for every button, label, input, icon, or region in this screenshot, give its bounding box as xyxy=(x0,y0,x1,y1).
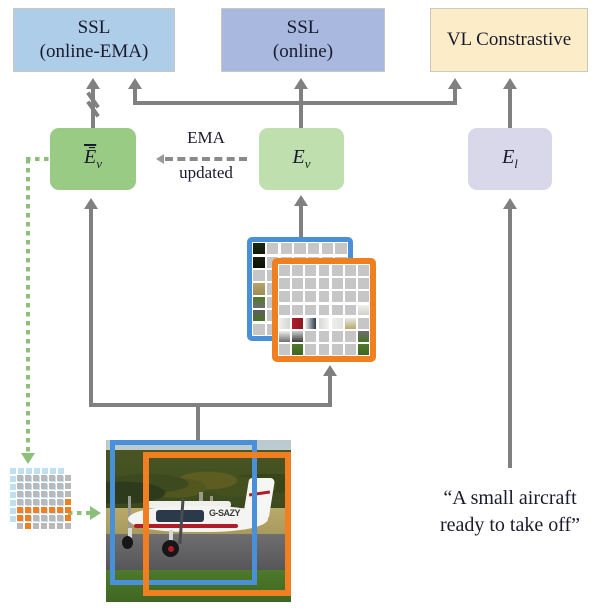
patch-cell xyxy=(253,243,264,254)
token-cell xyxy=(49,515,55,521)
token-cell xyxy=(33,523,39,529)
token-cell xyxy=(33,483,39,489)
patch-cell xyxy=(292,331,303,342)
arrow-head-to-ssl-online-ema xyxy=(128,78,142,89)
arrow-head-to-vl-contrastive-left xyxy=(448,78,462,89)
ema-label-top: EMA xyxy=(151,128,261,148)
patch-cell xyxy=(358,331,369,342)
objective-label-line2: (online-EMA) xyxy=(40,40,149,64)
patch-cell xyxy=(279,278,290,289)
token-cell xyxy=(41,507,47,513)
arrow-head-patchgrid-to-ev xyxy=(294,195,308,206)
patch-cell xyxy=(332,331,343,342)
patch-cell xyxy=(305,305,316,316)
patchgrid-to-ev-line xyxy=(299,205,303,237)
encoder-label: El xyxy=(502,145,518,172)
photo-to-patchgrid-line xyxy=(328,375,332,405)
patch-cell xyxy=(322,243,333,254)
arrow-head-photo-to-patchgrid xyxy=(323,365,337,376)
arrow-head-photo-to-target-encoder xyxy=(84,198,98,209)
patch-cell xyxy=(253,257,264,268)
patch-cell xyxy=(305,344,316,355)
patch-cell xyxy=(279,305,290,316)
caption-to-language-encoder-line xyxy=(508,208,512,468)
patch-cell xyxy=(294,243,305,254)
patch-cell xyxy=(292,265,303,276)
token-cell xyxy=(17,507,23,513)
token-cell xyxy=(57,515,63,521)
encoder-label: Ēv xyxy=(84,145,102,172)
patch-cell xyxy=(319,318,330,329)
arrow-head-to-vl-contrastive-right xyxy=(503,78,517,89)
photo-branch-bus xyxy=(89,403,332,407)
token-cell xyxy=(17,483,23,489)
token-cell xyxy=(34,468,40,474)
patch-cell xyxy=(332,291,343,302)
token-cell xyxy=(41,475,47,481)
token-cell xyxy=(33,515,39,521)
objective-box-ssl-online-ema[interactable]: SSL (online-EMA) xyxy=(13,8,175,72)
patch-cell xyxy=(332,278,343,289)
token-cell xyxy=(49,499,55,505)
patch-cells-orange xyxy=(278,264,370,356)
token-cell xyxy=(49,491,55,497)
patch-cell xyxy=(253,297,264,308)
token-cell xyxy=(65,499,71,505)
token-cell xyxy=(65,523,71,529)
patch-cell xyxy=(358,318,369,329)
token-cell xyxy=(17,475,23,481)
token-cell xyxy=(33,491,39,497)
patch-cell xyxy=(267,243,278,254)
ema-dashed-line xyxy=(165,157,247,161)
photo-to-target-encoder-line xyxy=(89,208,93,405)
patch-cell xyxy=(253,270,264,281)
token-cell xyxy=(57,491,63,497)
green-dotted-horizontal-to-encoder xyxy=(26,157,52,161)
patch-cell xyxy=(332,344,343,355)
caption-line2: ready to take off” xyxy=(415,512,600,539)
token-cell xyxy=(41,499,47,505)
patch-cell xyxy=(345,265,356,276)
patch-cell xyxy=(305,331,316,342)
bus-riser-right xyxy=(453,88,457,103)
token-cell xyxy=(65,483,71,489)
encoder-box-target-vision[interactable]: Ēv xyxy=(50,128,136,190)
token-cell xyxy=(49,483,55,489)
patch-cell xyxy=(345,291,356,302)
token-cell xyxy=(57,499,63,505)
patch-cell xyxy=(279,331,290,342)
objective-bus-line xyxy=(133,101,457,105)
diagram-canvas: SSL (online-EMA) SSL (online) VL Constra… xyxy=(0,0,600,610)
encoder-label: Ev xyxy=(293,145,311,172)
token-cell xyxy=(10,492,16,498)
patch-cell xyxy=(345,318,356,329)
patch-cell xyxy=(345,278,356,289)
patch-cell xyxy=(345,344,356,355)
patch-cell xyxy=(332,265,343,276)
token-cell xyxy=(25,507,31,513)
patch-cell xyxy=(292,305,303,316)
token-cell xyxy=(10,500,16,506)
token-cell xyxy=(57,523,63,529)
token-cell xyxy=(17,491,23,497)
token-cell xyxy=(10,516,16,522)
patch-cell xyxy=(292,318,303,329)
patch-cell xyxy=(358,265,369,276)
token-cell xyxy=(41,483,47,489)
arrow-head-stopgrad xyxy=(86,78,100,89)
objective-box-ssl-online[interactable]: SSL (online) xyxy=(221,8,385,72)
orange-crop-box[interactable] xyxy=(143,452,291,596)
objective-label-line1: VL Constrastive xyxy=(447,28,571,52)
token-cell xyxy=(25,523,31,529)
token-cell xyxy=(10,468,16,474)
token-cell xyxy=(57,507,63,513)
patch-cell xyxy=(253,310,264,321)
token-cell xyxy=(25,515,31,521)
token-cell xyxy=(65,491,71,497)
patch-cell xyxy=(292,278,303,289)
token-cell xyxy=(65,515,71,521)
token-cell xyxy=(25,475,31,481)
token-cell xyxy=(41,491,47,497)
token-cell xyxy=(57,475,63,481)
objective-label-line2: (online) xyxy=(273,40,333,64)
token-cell xyxy=(42,468,48,474)
encoder-box-language[interactable]: El xyxy=(468,128,552,190)
patch-cell xyxy=(319,291,330,302)
token-cell xyxy=(25,491,31,497)
token-cell xyxy=(57,483,63,489)
patch-cell xyxy=(253,324,264,335)
arrow-head-caption-to-language-encoder xyxy=(503,198,517,209)
patch-cell xyxy=(319,305,330,316)
text-caption: “A small aircraft ready to take off” xyxy=(415,485,600,539)
encoder-box-online-vision[interactable]: Ev xyxy=(259,128,344,190)
token-cell xyxy=(33,475,39,481)
objective-label-line1: SSL xyxy=(273,16,333,40)
token-cell xyxy=(65,475,71,481)
token-cell xyxy=(17,499,23,505)
patch-cell xyxy=(332,318,343,329)
patch-cell xyxy=(279,265,290,276)
patch-cell xyxy=(279,318,290,329)
token-cell xyxy=(58,468,64,474)
patch-cell xyxy=(335,243,346,254)
ema-label-bottom: updated xyxy=(151,163,261,183)
el-to-vl-line xyxy=(508,88,512,128)
token-cell xyxy=(10,484,16,490)
token-cell xyxy=(26,468,32,474)
objective-label-line1: SSL xyxy=(40,16,149,40)
caption-line1: “A small aircraft xyxy=(415,485,600,512)
patch-cell xyxy=(308,243,319,254)
patch-cell xyxy=(358,305,369,316)
patch-cell xyxy=(279,291,290,302)
green-dotted-vertical xyxy=(26,159,30,456)
arrow-head-to-ssl-online xyxy=(294,78,308,89)
ev-to-bus-line xyxy=(299,101,303,128)
patch-cell xyxy=(292,344,303,355)
token-cell xyxy=(10,508,16,514)
patch-cell xyxy=(305,265,316,276)
token-cell xyxy=(41,523,47,529)
patch-cell xyxy=(358,278,369,289)
token-cell xyxy=(17,523,23,529)
token-cell xyxy=(18,468,24,474)
token-cell xyxy=(17,515,23,521)
token-cell xyxy=(10,476,16,482)
token-mask-map-front xyxy=(17,475,73,531)
patch-cell xyxy=(319,265,330,276)
patch-cell xyxy=(358,291,369,302)
token-cell xyxy=(41,515,47,521)
arrow-head-green-down xyxy=(21,453,35,464)
token-cell xyxy=(49,523,55,529)
objective-box-vl-contrastive[interactable]: VL Constrastive xyxy=(430,8,588,72)
patch-cell xyxy=(319,278,330,289)
bus-riser-left xyxy=(133,88,137,103)
patch-cell xyxy=(279,344,290,355)
patch-cell xyxy=(332,305,343,316)
token-cell xyxy=(65,507,71,513)
token-cell xyxy=(33,507,39,513)
patch-cell xyxy=(305,278,316,289)
patch-cell xyxy=(305,291,316,302)
token-cell xyxy=(49,507,55,513)
patch-cell xyxy=(281,243,292,254)
arrow-head-green-right xyxy=(90,506,101,520)
patch-cell xyxy=(305,318,316,329)
patch-cell xyxy=(319,344,330,355)
patch-cell xyxy=(319,331,330,342)
token-cell xyxy=(33,499,39,505)
patch-cell xyxy=(345,331,356,342)
token-cell xyxy=(49,475,55,481)
patch-cell xyxy=(345,305,356,316)
token-cell xyxy=(25,483,31,489)
token-cell xyxy=(25,499,31,505)
photo-stem-line xyxy=(196,403,200,441)
patch-cell xyxy=(253,283,264,294)
patch-cell xyxy=(292,291,303,302)
patch-cell xyxy=(358,344,369,355)
masked-patch-grid-orange[interactable] xyxy=(272,258,376,362)
token-cell xyxy=(50,468,56,474)
